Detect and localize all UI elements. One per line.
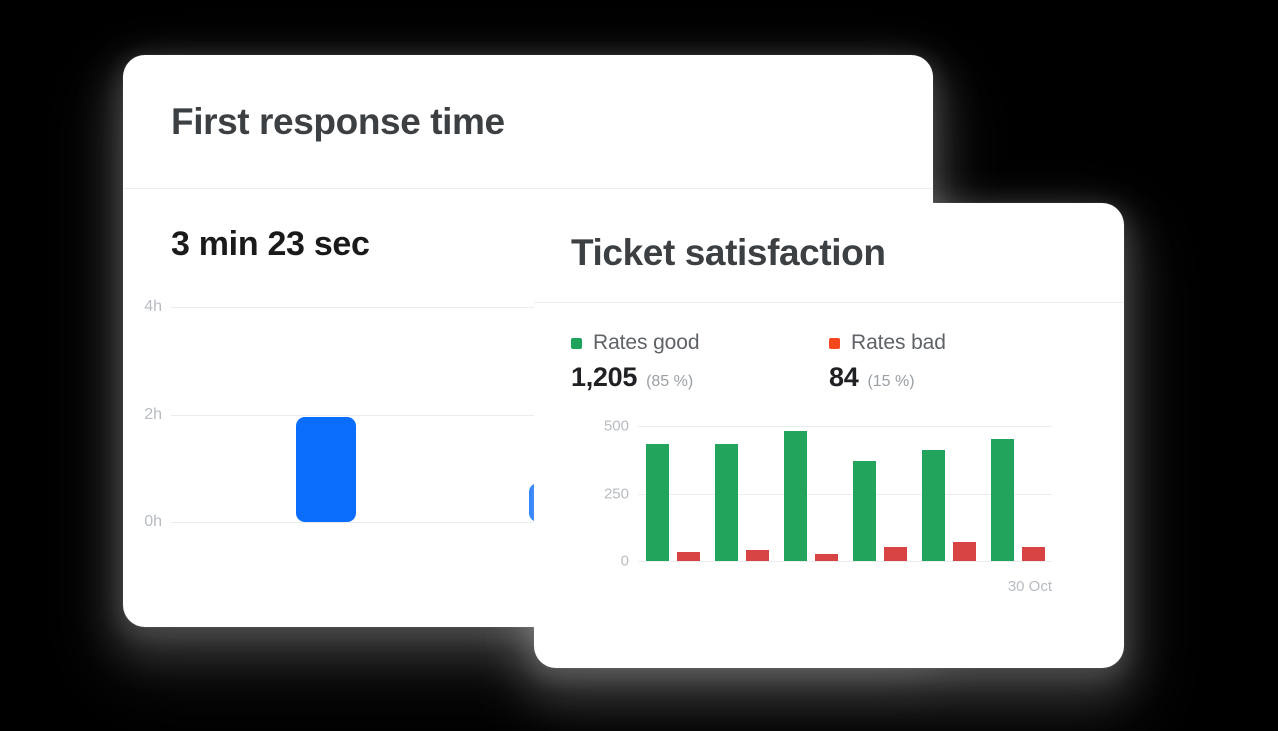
ticket-satisfaction-body: Rates good 1,205 (85 %) Rates bad 84 (15… <box>534 303 1124 667</box>
bar-rates-good <box>922 450 945 561</box>
screenshot-stage: First response time 3 min 23 sec 0h2h4h … <box>0 0 1278 731</box>
satisfaction-legend: Rates good 1,205 (85 %) Rates bad 84 (15… <box>571 331 1087 393</box>
gridline <box>638 426 1052 427</box>
legend-head-rates-bad: Rates bad <box>829 331 1087 355</box>
legend-values-rates-good: 1,205 (85 %) <box>571 362 829 393</box>
bar-rates-bad <box>953 542 976 561</box>
y-axis-tick-label: 500 <box>604 418 629 435</box>
legend-label-rates-bad: Rates bad <box>851 331 946 355</box>
bar-rates-good <box>991 439 1014 561</box>
rates-good-count: 1,205 <box>571 362 637 393</box>
bar-first-response-time <box>296 417 356 522</box>
legend-label-rates-good: Rates good <box>593 331 699 355</box>
ticket-satisfaction-title: Ticket satisfaction <box>571 232 886 274</box>
bar-rates-bad <box>677 552 700 561</box>
rates-good-percent: (85 %) <box>646 373 693 391</box>
bar-rates-good <box>784 431 807 561</box>
bar-rates-bad <box>746 550 769 561</box>
legend-item-rates-bad: Rates bad 84 (15 %) <box>829 331 1087 393</box>
rates-bad-percent: (15 %) <box>867 373 914 391</box>
y-axis-tick-label: 2h <box>144 406 162 424</box>
y-axis-tick-label: 0 <box>621 553 629 570</box>
first-response-time-title: First response time <box>171 101 505 143</box>
legend-item-rates-good: Rates good 1,205 (85 %) <box>571 331 829 393</box>
square-dot-icon <box>571 338 582 349</box>
bar-rates-bad <box>815 554 838 561</box>
ticket-satisfaction-header: Ticket satisfaction <box>534 203 1124 302</box>
ticket-satisfaction-card: Ticket satisfaction Rates good 1,205 (85… <box>534 203 1124 668</box>
ticket-satisfaction-chart: 30 Oct 0250500 <box>638 426 1052 561</box>
gridline <box>638 561 1052 562</box>
y-axis-tick-label: 250 <box>604 485 629 502</box>
chart-x-axis-label: 30 Oct <box>638 578 1052 595</box>
gridline <box>638 494 1052 495</box>
bar-rates-good <box>646 444 669 561</box>
y-axis-tick-label: 4h <box>144 298 162 316</box>
bar-rates-bad <box>884 547 907 561</box>
rates-bad-count: 84 <box>829 362 858 393</box>
legend-values-rates-bad: 84 (15 %) <box>829 362 1087 393</box>
legend-head-rates-good: Rates good <box>571 331 829 355</box>
first-response-time-header: First response time <box>123 55 933 188</box>
bar-rates-good <box>853 461 876 561</box>
square-dot-icon <box>829 338 840 349</box>
bar-rates-bad <box>1022 547 1045 561</box>
bar-rates-good <box>715 444 738 561</box>
y-axis-tick-label: 0h <box>144 513 162 531</box>
